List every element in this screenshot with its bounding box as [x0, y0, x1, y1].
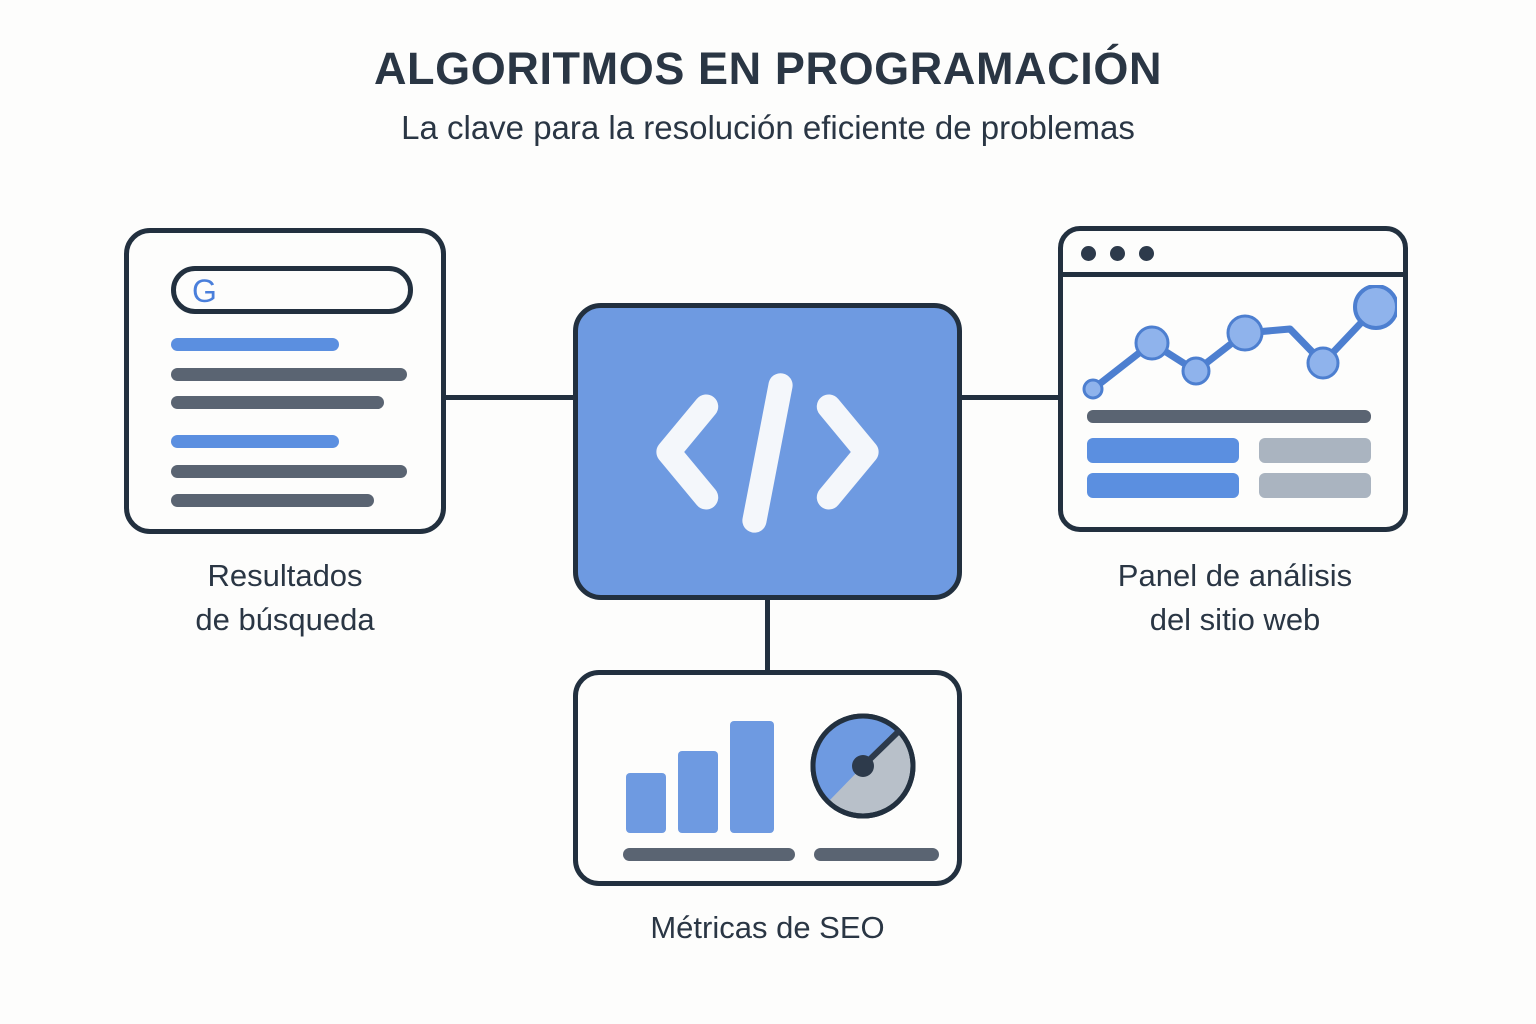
page-title: ALGORITMOS EN PROGRAMACIÓN — [0, 44, 1536, 94]
panel-bar-light-gray — [1259, 473, 1371, 498]
panel-bar-blue — [1087, 438, 1239, 463]
panel-bar-light-gray — [1259, 438, 1371, 463]
seo-bar-1 — [626, 773, 666, 833]
connector-left — [446, 395, 575, 400]
seo-metrics-card[interactable] — [573, 670, 962, 886]
window-dot-icon — [1139, 246, 1154, 261]
seo-bar-3 — [730, 721, 774, 833]
result-line-gray — [171, 368, 407, 381]
result-line-gray — [171, 396, 384, 409]
panel-bar-dark — [1087, 410, 1371, 423]
analytics-panel-caption: Panel de análisis del sitio web — [1035, 554, 1435, 642]
connector-bottom — [765, 598, 770, 672]
seo-gauge-chart — [808, 711, 918, 821]
diagram-canvas: ALGORITMOS EN PROGRAMACIÓN La clave para… — [0, 0, 1536, 1024]
connector-right — [960, 395, 1060, 400]
result-line-gray — [171, 465, 407, 478]
page-subtitle: La clave para la resolución eficiente de… — [0, 108, 1536, 148]
result-line-blue — [171, 338, 339, 351]
search-results-caption: Resultados de búsqueda — [95, 554, 475, 642]
header: ALGORITMOS EN PROGRAMACIÓN La clave para… — [0, 44, 1536, 147]
seo-bar-2 — [678, 751, 718, 833]
search-results-card[interactable]: G — [124, 228, 446, 534]
result-line-blue — [171, 435, 339, 448]
seo-underbar-2 — [814, 848, 939, 861]
seo-metrics-caption: Métricas de SEO — [573, 906, 962, 950]
analytics-line-chart — [1079, 285, 1397, 405]
browser-titlebar — [1063, 231, 1403, 277]
window-dot-icon — [1081, 246, 1096, 261]
panel-bar-blue — [1087, 473, 1239, 498]
google-g-icon: G — [192, 274, 217, 308]
seo-underbar-1 — [623, 848, 795, 861]
search-input[interactable]: G — [171, 266, 413, 314]
result-line-gray — [171, 494, 374, 507]
code-brackets-icon — [578, 308, 957, 595]
code-block-node[interactable] — [573, 303, 962, 600]
window-dot-icon — [1110, 246, 1125, 261]
analytics-panel-card[interactable] — [1058, 226, 1408, 532]
